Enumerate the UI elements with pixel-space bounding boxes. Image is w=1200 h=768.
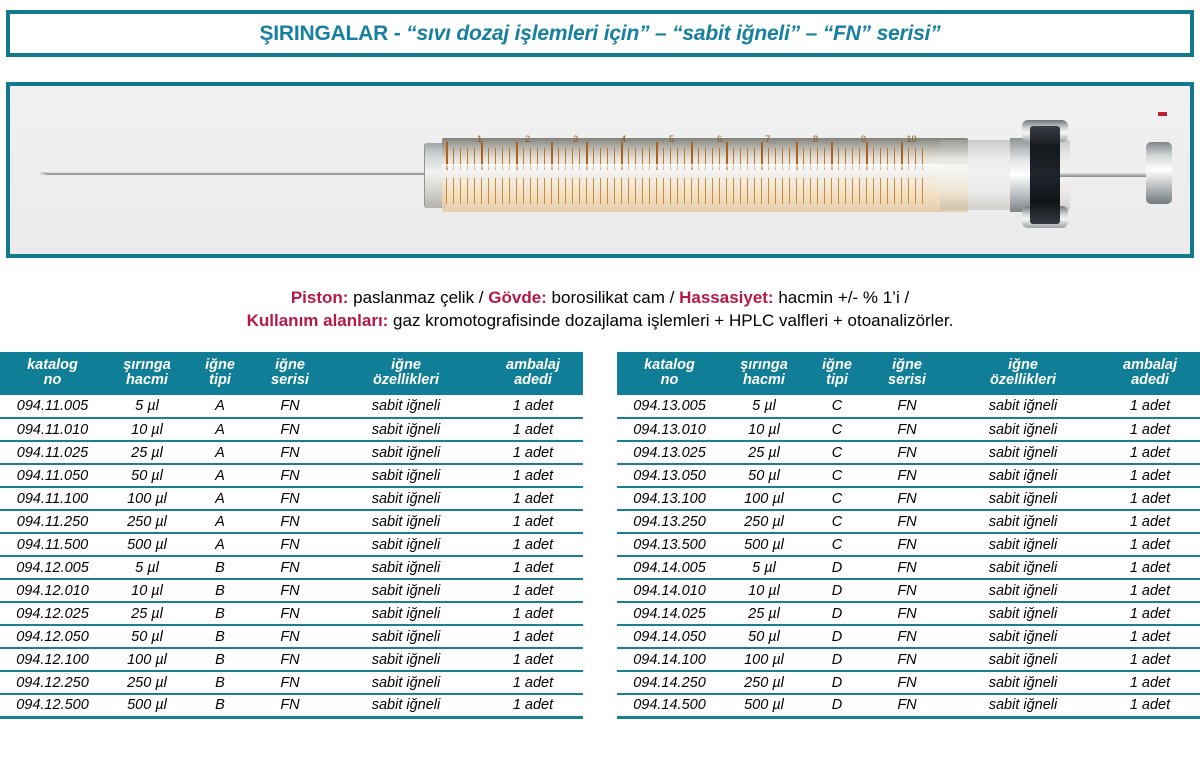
page-title-bar: ŞIRINGALAR - “sıvı dozaj işlemleri için”…: [6, 10, 1194, 57]
spec-table-left-body: 094.11.0055 µlAFNsabit iğneli1 adet094.1…: [0, 395, 583, 717]
column-header-igne-tipi: iğne tipi: [806, 352, 868, 395]
cell-ambalaj-adedi: 1 adet: [483, 533, 583, 556]
cell-igne-tipi: B: [189, 556, 251, 579]
value-kullanim-alanlari: gaz kromotografisinde dozajlama işlemler…: [388, 311, 953, 330]
cell-igne-serisi: FN: [251, 625, 329, 648]
cell-ambalaj-adedi: 1 adet: [1100, 579, 1200, 602]
cell-katalog-no: 094.13.010: [617, 418, 722, 441]
cell-igne-tipi: C: [806, 418, 868, 441]
cell-katalog-no: 094.13.050: [617, 464, 722, 487]
cell-igne-tipi: D: [806, 671, 868, 694]
cell-igne-serisi: FN: [251, 602, 329, 625]
cell-siringa-hacmi: 250 µl: [722, 510, 806, 533]
column-header-ambalaj-adedi: ambalaj adedi: [483, 352, 583, 395]
column-header-igne-serisi: iğne serisi: [251, 352, 329, 395]
cell-igne-ozellikleri: sabit iğneli: [329, 556, 483, 579]
cell-siringa-hacmi: 250 µl: [105, 510, 189, 533]
cell-ambalaj-adedi: 1 adet: [483, 441, 583, 464]
cell-siringa-hacmi: 50 µl: [105, 625, 189, 648]
cell-ambalaj-adedi: 1 adet: [1100, 602, 1200, 625]
table-row[interactable]: 094.12.05050 µlBFNsabit iğneli1 adet: [0, 625, 583, 648]
cell-igne-ozellikleri: sabit iğneli: [329, 694, 483, 717]
cell-siringa-hacmi: 5 µl: [105, 395, 189, 418]
cell-siringa-hacmi: 25 µl: [722, 602, 806, 625]
cell-igne-ozellikleri: sabit iğneli: [329, 533, 483, 556]
cell-katalog-no: 094.11.010: [0, 418, 105, 441]
table-header-row: katalog noşırınga hacmiiğne tipiiğne ser…: [0, 352, 583, 395]
cell-ambalaj-adedi: 1 adet: [1100, 533, 1200, 556]
plunger-flange-icon: [1030, 126, 1060, 224]
cell-ambalaj-adedi: 1 adet: [1100, 694, 1200, 717]
cell-ambalaj-adedi: 1 adet: [483, 556, 583, 579]
cell-igne-ozellikleri: sabit iğneli: [946, 464, 1100, 487]
cell-katalog-no: 094.12.250: [0, 671, 105, 694]
needle-shaft-icon: [46, 172, 436, 175]
cell-katalog-no: 094.13.250: [617, 510, 722, 533]
cell-igne-ozellikleri: sabit iğneli: [329, 441, 483, 464]
cell-igne-serisi: FN: [251, 694, 329, 717]
cell-siringa-hacmi: 500 µl: [722, 533, 806, 556]
cell-igne-tipi: B: [189, 625, 251, 648]
cell-igne-tipi: D: [806, 579, 868, 602]
cell-ambalaj-adedi: 1 adet: [1100, 418, 1200, 441]
cell-igne-ozellikleri: sabit iğneli: [946, 648, 1100, 671]
cell-ambalaj-adedi: 1 adet: [483, 487, 583, 510]
scale-number-labels: 12345678910: [446, 134, 926, 148]
table-row[interactable]: 094.13.500500 µlCFNsabit iğneli1 adet: [617, 533, 1200, 556]
cell-igne-serisi: FN: [868, 602, 946, 625]
cell-ambalaj-adedi: 1 adet: [483, 625, 583, 648]
table-row[interactable]: 094.13.0055 µlCFNsabit iğneli1 adet: [617, 395, 1200, 418]
cell-igne-tipi: B: [189, 602, 251, 625]
scale-number: 2: [525, 134, 530, 144]
cell-igne-tipi: B: [189, 648, 251, 671]
cell-igne-serisi: FN: [868, 418, 946, 441]
cell-ambalaj-adedi: 1 adet: [483, 648, 583, 671]
cell-katalog-no: 094.14.050: [617, 625, 722, 648]
cell-igne-tipi: A: [189, 533, 251, 556]
spec-table-right-head: katalog noşırınga hacmiiğne tipiiğne ser…: [617, 352, 1200, 395]
cell-igne-tipi: B: [189, 579, 251, 602]
cell-igne-serisi: FN: [868, 556, 946, 579]
table-row[interactable]: 094.13.100100 µlCFNsabit iğneli1 adet: [617, 487, 1200, 510]
table-row[interactable]: 094.12.0055 µlBFNsabit iğneli1 adet: [0, 556, 583, 579]
cell-igne-tipi: A: [189, 395, 251, 418]
cell-katalog-no: 094.12.500: [0, 694, 105, 717]
label-kullanim-alanlari: Kullanım alanları:: [247, 311, 389, 330]
plunger-end-cap-icon: [1146, 142, 1172, 204]
cell-igne-serisi: FN: [251, 671, 329, 694]
label-govde: Gövde:: [488, 288, 547, 307]
cell-siringa-hacmi: 25 µl: [105, 602, 189, 625]
cell-igne-tipi: C: [806, 487, 868, 510]
cell-siringa-hacmi: 500 µl: [105, 533, 189, 556]
column-header-katalog-no: katalog no: [617, 352, 722, 395]
cell-ambalaj-adedi: 1 adet: [483, 671, 583, 694]
table-row[interactable]: 094.11.0055 µlAFNsabit iğneli1 adet: [0, 395, 583, 418]
table-row[interactable]: 094.12.500500 µlBFNsabit iğneli1 adet: [0, 694, 583, 717]
cell-igne-ozellikleri: sabit iğneli: [329, 464, 483, 487]
cell-siringa-hacmi: 10 µl: [105, 579, 189, 602]
table-row[interactable]: 094.14.05050 µlDFNsabit iğneli1 adet: [617, 625, 1200, 648]
cell-igne-serisi: FN: [251, 533, 329, 556]
spec-tables-container: katalog noşırınga hacmiiğne tipiiğne ser…: [0, 352, 1200, 719]
cell-igne-tipi: C: [806, 533, 868, 556]
cell-igne-serisi: FN: [251, 487, 329, 510]
table-row[interactable]: 094.11.05050 µlAFNsabit iğneli1 adet: [0, 464, 583, 487]
cell-igne-serisi: FN: [868, 395, 946, 418]
scale-number: 10: [907, 134, 917, 144]
cell-ambalaj-adedi: 1 adet: [483, 602, 583, 625]
cell-katalog-no: 094.11.005: [0, 395, 105, 418]
cell-siringa-hacmi: 25 µl: [105, 441, 189, 464]
cell-katalog-no: 094.14.100: [617, 648, 722, 671]
cell-igne-ozellikleri: sabit iğneli: [329, 510, 483, 533]
cell-katalog-no: 094.12.050: [0, 625, 105, 648]
cell-igne-ozellikleri: sabit iğneli: [946, 395, 1100, 418]
cell-igne-ozellikleri: sabit iğneli: [329, 602, 483, 625]
cell-katalog-no: 094.11.500: [0, 533, 105, 556]
cell-igne-tipi: D: [806, 648, 868, 671]
table-row[interactable]: 094.11.500500 µlAFNsabit iğneli1 adet: [0, 533, 583, 556]
scale-number: 1: [477, 134, 482, 144]
scale-number: 6: [717, 134, 722, 144]
column-header-igne-serisi: iğne serisi: [868, 352, 946, 395]
table-row[interactable]: 094.14.02525 µlDFNsabit iğneli1 adet: [617, 602, 1200, 625]
product-image-panel: 12345678910: [6, 82, 1194, 258]
cell-igne-ozellikleri: sabit iğneli: [329, 487, 483, 510]
cell-katalog-no: 094.13.500: [617, 533, 722, 556]
cell-igne-tipi: C: [806, 464, 868, 487]
table-row[interactable]: 094.13.250250 µlCFNsabit iğneli1 adet: [617, 510, 1200, 533]
cell-siringa-hacmi: 100 µl: [105, 648, 189, 671]
plunger-rod-icon: [1060, 172, 1156, 177]
cell-igne-tipi: D: [806, 602, 868, 625]
table-row[interactable]: 094.14.250250 µlDFNsabit iğneli1 adet: [617, 671, 1200, 694]
cell-siringa-hacmi: 5 µl: [722, 556, 806, 579]
spec-table-right-wrap: katalog noşırınga hacmiiğne tipiiğne ser…: [617, 352, 1200, 719]
cell-katalog-no: 094.14.500: [617, 694, 722, 717]
cell-igne-ozellikleri: sabit iğneli: [946, 579, 1100, 602]
cell-ambalaj-adedi: 1 adet: [1100, 510, 1200, 533]
table-row[interactable]: 094.14.0055 µlDFNsabit iğneli1 adet: [617, 556, 1200, 579]
cell-siringa-hacmi: 500 µl: [105, 694, 189, 717]
cell-katalog-no: 094.13.005: [617, 395, 722, 418]
cell-igne-ozellikleri: sabit iğneli: [946, 556, 1100, 579]
cell-igne-serisi: FN: [251, 648, 329, 671]
cell-siringa-hacmi: 100 µl: [722, 487, 806, 510]
cell-igne-serisi: FN: [868, 487, 946, 510]
cell-ambalaj-adedi: 1 adet: [483, 418, 583, 441]
column-header-ambalaj-adedi: ambalaj adedi: [1100, 352, 1200, 395]
cell-igne-ozellikleri: sabit iğneli: [946, 533, 1100, 556]
scale-number: 8: [813, 134, 818, 144]
cell-igne-ozellikleri: sabit iğneli: [946, 510, 1100, 533]
table-row[interactable]: 094.11.02525 µlAFNsabit iğneli1 adet: [0, 441, 583, 464]
table-row[interactable]: 094.11.250250 µlAFNsabit iğneli1 adet: [0, 510, 583, 533]
cell-igne-tipi: B: [189, 694, 251, 717]
cell-siringa-hacmi: 25 µl: [722, 441, 806, 464]
cell-igne-tipi: A: [189, 464, 251, 487]
page-title-main: ŞIRINGALAR: [259, 22, 388, 45]
cell-igne-ozellikleri: sabit iğneli: [946, 441, 1100, 464]
table-row[interactable]: 094.12.100100 µlBFNsabit iğneli1 adet: [0, 648, 583, 671]
column-header-katalog-no: katalog no: [0, 352, 105, 395]
cell-igne-serisi: FN: [251, 464, 329, 487]
cell-ambalaj-adedi: 1 adet: [483, 579, 583, 602]
spec-table-left: katalog noşırınga hacmiiğne tipiiğne ser…: [0, 352, 583, 719]
scale-number: 7: [765, 134, 770, 144]
value-piston: paslanmaz çelik /: [348, 288, 488, 307]
cell-igne-ozellikleri: sabit iğneli: [329, 671, 483, 694]
table-row[interactable]: 094.11.100100 µlAFNsabit iğneli1 adet: [0, 487, 583, 510]
description-line-2: Kullanım alanları: gaz kromotografisinde…: [0, 309, 1200, 332]
cell-siringa-hacmi: 250 µl: [105, 671, 189, 694]
cell-igne-ozellikleri: sabit iğneli: [946, 602, 1100, 625]
cell-ambalaj-adedi: 1 adet: [483, 464, 583, 487]
cell-katalog-no: 094.11.100: [0, 487, 105, 510]
cell-ambalaj-adedi: 1 adet: [1100, 464, 1200, 487]
spec-table-left-head: katalog noşırınga hacmiiğne tipiiğne ser…: [0, 352, 583, 395]
column-header-siringa-hacmi: şırınga hacmi: [105, 352, 189, 395]
cell-igne-ozellikleri: sabit iğneli: [329, 648, 483, 671]
cell-siringa-hacmi: 5 µl: [105, 556, 189, 579]
cell-igne-ozellikleri: sabit iğneli: [329, 395, 483, 418]
table-row[interactable]: 094.12.01010 µlBFNsabit iğneli1 adet: [0, 579, 583, 602]
cell-igne-tipi: D: [806, 694, 868, 717]
cell-igne-serisi: FN: [251, 395, 329, 418]
cell-igne-ozellikleri: sabit iğneli: [946, 487, 1100, 510]
cell-katalog-no: 094.12.100: [0, 648, 105, 671]
cell-igne-serisi: FN: [868, 625, 946, 648]
scale-ticks-bottom-icon: [446, 178, 926, 204]
cell-igne-serisi: FN: [251, 441, 329, 464]
value-govde: borosilikat cam /: [547, 288, 679, 307]
cell-siringa-hacmi: 50 µl: [722, 625, 806, 648]
cell-igne-serisi: FN: [868, 694, 946, 717]
cell-siringa-hacmi: 250 µl: [722, 671, 806, 694]
page-title-separator: -: [388, 22, 406, 45]
table-row[interactable]: 094.14.01010 µlDFNsabit iğneli1 adet: [617, 579, 1200, 602]
cell-katalog-no: 094.13.025: [617, 441, 722, 464]
table-header-row: katalog noşırınga hacmiiğne tipiiğne ser…: [617, 352, 1200, 395]
column-header-igne-tipi: iğne tipi: [189, 352, 251, 395]
cell-igne-serisi: FN: [868, 648, 946, 671]
table-row[interactable]: 094.13.01010 µlCFNsabit iğneli1 adet: [617, 418, 1200, 441]
cell-igne-serisi: FN: [868, 533, 946, 556]
cell-igne-ozellikleri: sabit iğneli: [329, 418, 483, 441]
spec-table-right: katalog noşırınga hacmiiğne tipiiğne ser…: [617, 352, 1200, 719]
cell-igne-tipi: A: [189, 510, 251, 533]
cell-katalog-no: 094.12.025: [0, 602, 105, 625]
cell-katalog-no: 094.11.250: [0, 510, 105, 533]
cell-igne-tipi: D: [806, 556, 868, 579]
cell-igne-serisi: FN: [868, 464, 946, 487]
label-hassasiyet: Hassasiyet:: [679, 288, 774, 307]
cell-igne-tipi: A: [189, 487, 251, 510]
cell-igne-ozellikleri: sabit iğneli: [946, 625, 1100, 648]
label-piston: Piston:: [291, 288, 349, 307]
cell-katalog-no: 094.14.025: [617, 602, 722, 625]
cell-siringa-hacmi: 10 µl: [105, 418, 189, 441]
cell-ambalaj-adedi: 1 adet: [483, 395, 583, 418]
spec-table-right-body: 094.13.0055 µlCFNsabit iğneli1 adet094.1…: [617, 395, 1200, 717]
cell-igne-tipi: C: [806, 395, 868, 418]
cell-igne-ozellikleri: sabit iğneli: [946, 418, 1100, 441]
cell-igne-serisi: FN: [251, 579, 329, 602]
cell-siringa-hacmi: 50 µl: [105, 464, 189, 487]
cell-igne-ozellikleri: sabit iğneli: [329, 579, 483, 602]
cell-igne-serisi: FN: [868, 579, 946, 602]
cell-igne-tipi: C: [806, 441, 868, 464]
cell-igne-tipi: A: [189, 441, 251, 464]
cell-katalog-no: 094.11.025: [0, 441, 105, 464]
cell-igne-ozellikleri: sabit iğneli: [946, 694, 1100, 717]
cell-ambalaj-adedi: 1 adet: [483, 510, 583, 533]
cell-igne-serisi: FN: [868, 510, 946, 533]
cell-igne-tipi: B: [189, 671, 251, 694]
cell-katalog-no: 094.13.100: [617, 487, 722, 510]
cell-igne-serisi: FN: [251, 510, 329, 533]
cell-ambalaj-adedi: 1 adet: [483, 694, 583, 717]
cell-igne-serisi: FN: [251, 418, 329, 441]
column-header-igne-ozellikleri: iğne özellikleri: [946, 352, 1100, 395]
cell-siringa-hacmi: 100 µl: [722, 648, 806, 671]
product-description: Piston: paslanmaz çelik / Gövde: borosil…: [0, 286, 1200, 332]
value-hassasiyet: hacmin +/- % 1’i /: [774, 288, 910, 307]
column-header-siringa-hacmi: şırınga hacmi: [722, 352, 806, 395]
scale-number: 5: [669, 134, 674, 144]
scale-number: 3: [573, 134, 578, 144]
page-title-subtitle: “sıvı dozaj işlemleri için” – “sabit iğn…: [406, 22, 940, 45]
spec-table-left-wrap: katalog noşırınga hacmiiğne tipiiğne ser…: [0, 352, 583, 719]
cell-igne-serisi: FN: [868, 441, 946, 464]
cell-siringa-hacmi: 5 µl: [722, 395, 806, 418]
cell-siringa-hacmi: 10 µl: [722, 579, 806, 602]
cell-igne-ozellikleri: sabit iğneli: [946, 671, 1100, 694]
cell-igne-serisi: FN: [251, 556, 329, 579]
cell-ambalaj-adedi: 1 adet: [1100, 487, 1200, 510]
page-title: ŞIRINGALAR - “sıvı dozaj işlemleri için”…: [259, 23, 940, 44]
cell-katalog-no: 094.14.250: [617, 671, 722, 694]
table-row[interactable]: 094.12.250250 µlBFNsabit iğneli1 adet: [0, 671, 583, 694]
cell-igne-tipi: D: [806, 625, 868, 648]
cell-ambalaj-adedi: 1 adet: [1100, 671, 1200, 694]
cell-katalog-no: 094.12.010: [0, 579, 105, 602]
cell-siringa-hacmi: 10 µl: [722, 418, 806, 441]
barrel-sheen-icon: [442, 164, 968, 173]
cell-ambalaj-adedi: 1 adet: [1100, 556, 1200, 579]
cell-ambalaj-adedi: 1 adet: [1100, 625, 1200, 648]
cell-igne-serisi: FN: [868, 671, 946, 694]
cell-siringa-hacmi: 50 µl: [722, 464, 806, 487]
cell-ambalaj-adedi: 1 adet: [1100, 648, 1200, 671]
cell-katalog-no: 094.14.005: [617, 556, 722, 579]
cell-igne-ozellikleri: sabit iğneli: [329, 625, 483, 648]
cell-katalog-no: 094.12.005: [0, 556, 105, 579]
table-row[interactable]: 094.12.02525 µlBFNsabit iğneli1 adet: [0, 602, 583, 625]
cell-siringa-hacmi: 100 µl: [105, 487, 189, 510]
syringe-photo: 12345678910: [10, 86, 1190, 254]
scale-number: 4: [621, 134, 626, 144]
column-header-igne-ozellikleri: iğne özellikleri: [329, 352, 483, 395]
cell-katalog-no: 094.11.050: [0, 464, 105, 487]
table-row[interactable]: 094.11.01010 µlAFNsabit iğneli1 adet: [0, 418, 583, 441]
cell-igne-tipi: A: [189, 418, 251, 441]
table-row[interactable]: 094.14.500500 µlDFNsabit iğneli1 adet: [617, 694, 1200, 717]
red-marker-icon: [1158, 112, 1167, 116]
cell-siringa-hacmi: 500 µl: [722, 694, 806, 717]
scale-number: 9: [861, 134, 866, 144]
cell-ambalaj-adedi: 1 adet: [1100, 395, 1200, 418]
cell-ambalaj-adedi: 1 adet: [1100, 441, 1200, 464]
catalog-page: ŞIRINGALAR - “sıvı dozaj işlemleri için”…: [0, 0, 1200, 768]
cell-igne-tipi: C: [806, 510, 868, 533]
table-row[interactable]: 094.13.02525 µlCFNsabit iğneli1 adet: [617, 441, 1200, 464]
table-row[interactable]: 094.13.05050 µlCFNsabit iğneli1 adet: [617, 464, 1200, 487]
cell-katalog-no: 094.14.010: [617, 579, 722, 602]
table-row[interactable]: 094.14.100100 µlDFNsabit iğneli1 adet: [617, 648, 1200, 671]
description-line-1: Piston: paslanmaz çelik / Gövde: borosil…: [0, 286, 1200, 309]
